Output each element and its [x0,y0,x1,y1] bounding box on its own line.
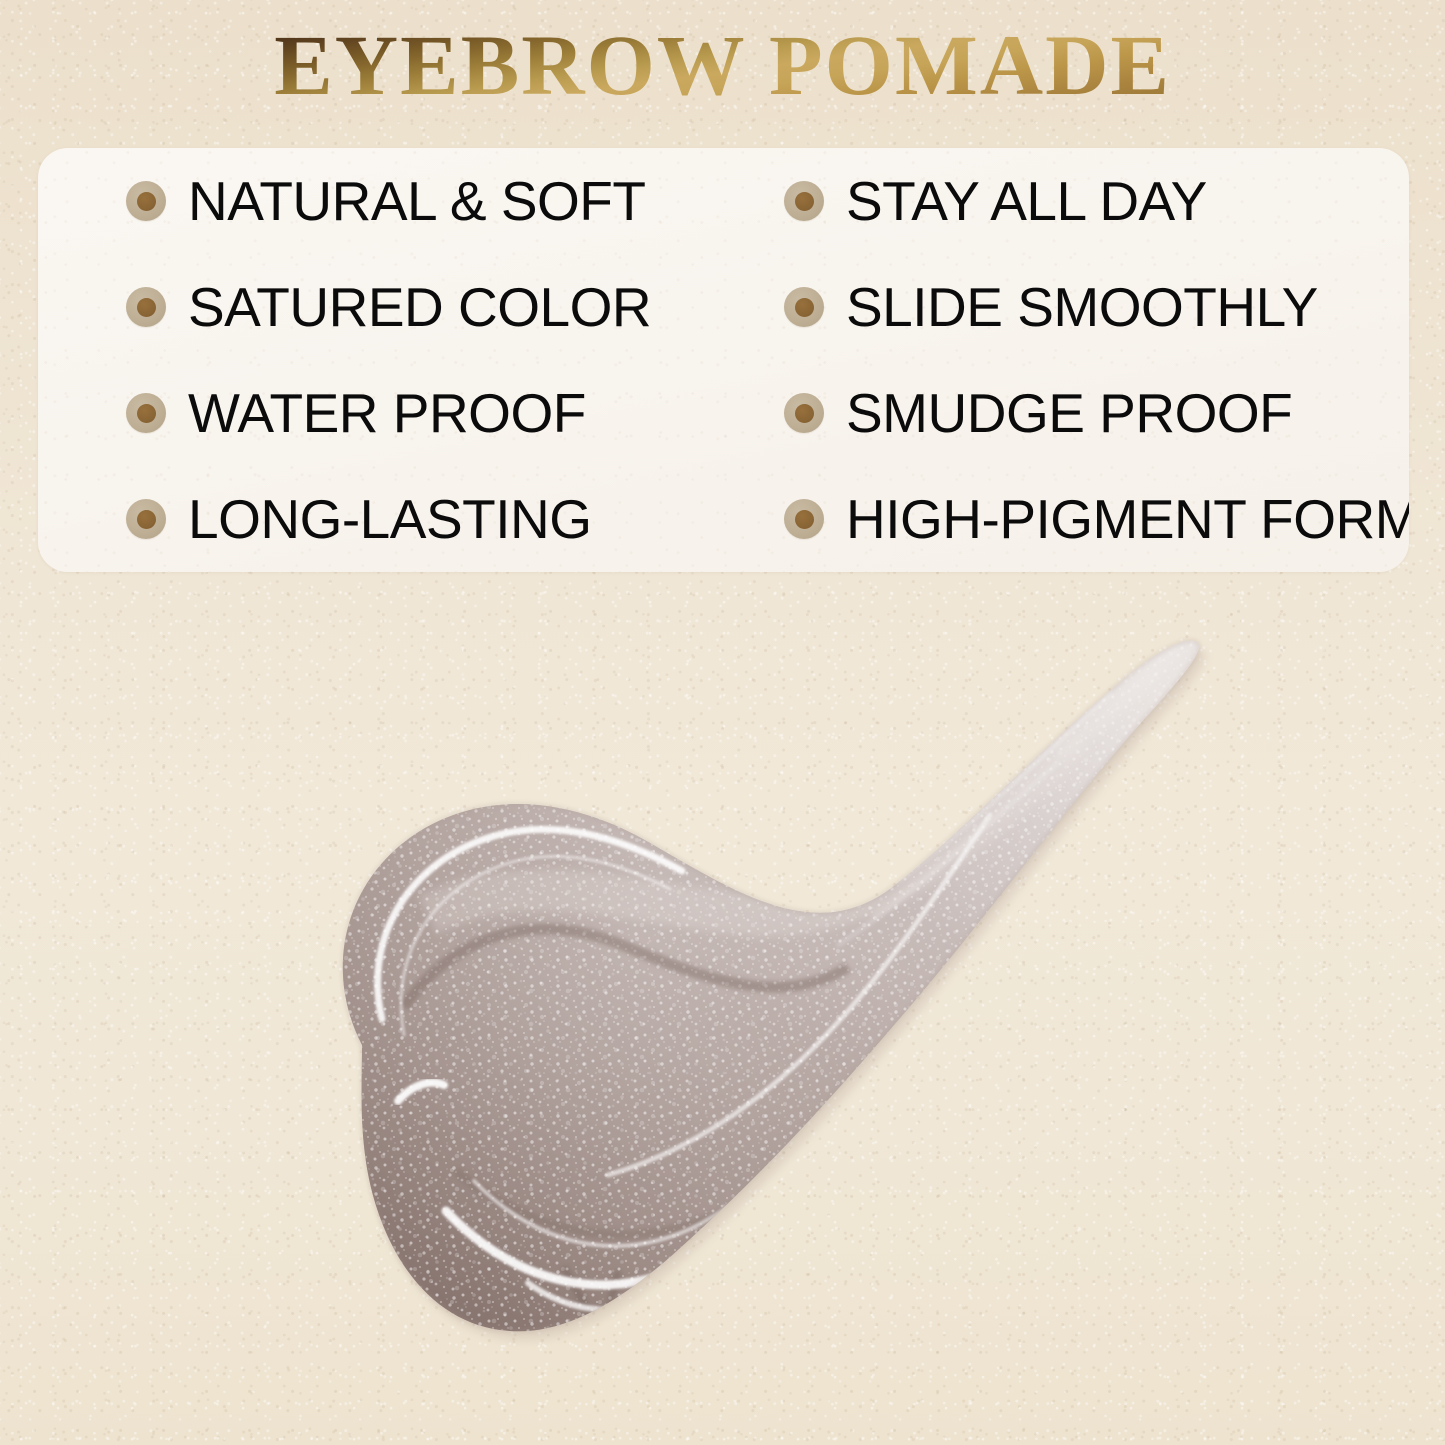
bullet-dot-icon [126,287,166,327]
features-grid: NATURAL & SOFT STAY ALL DAY SATURED COLO… [38,148,1409,572]
bullet-dot-icon [784,181,824,221]
bullet-dot-icon [784,287,824,327]
bullet-dot-core-icon [795,192,814,211]
feature-item-smudge-proof: SMUDGE PROOF [784,360,1409,466]
feature-label: SMUDGE PROOF [846,386,1292,441]
bullet-dot-icon [126,499,166,539]
bullet-dot-core-icon [137,192,156,211]
bullet-dot-icon [784,393,824,433]
bullet-dot-core-icon [795,298,814,317]
bullet-dot-icon [126,393,166,433]
page-title-container: EYEBROW POMADE [0,22,1445,110]
feature-item-water-proof: WATER PROOF [126,360,784,466]
page-background: EYEBROW POMADE NATURAL & SOFT STAY ALL D… [0,0,1445,1445]
feature-label: STAY ALL DAY [846,174,1207,229]
feature-item-slide-smoothly: SLIDE SMOOTHLY [784,254,1409,360]
feature-label: SLIDE SMOOTHLY [846,280,1318,335]
bullet-dot-core-icon [795,510,814,529]
feature-item-stay-all-day: STAY ALL DAY [784,148,1409,254]
feature-item-long-lasting: LONG-LASTING [126,466,784,572]
bullet-dot-core-icon [137,510,156,529]
features-card: NATURAL & SOFT STAY ALL DAY SATURED COLO… [38,148,1409,572]
bullet-dot-core-icon [795,404,814,423]
bullet-dot-core-icon [137,404,156,423]
feature-item-natural-soft: NATURAL & SOFT [126,148,784,254]
feature-label: HIGH-PIGMENT FORMULA [846,492,1409,547]
page-title: EYEBROW POMADE [274,22,1171,110]
feature-label: SATURED COLOR [188,280,651,335]
feature-label: NATURAL & SOFT [188,174,646,229]
pomade-smear-graphic [278,615,1218,1415]
bullet-dot-core-icon [137,298,156,317]
bullet-dot-icon [126,181,166,221]
feature-label: WATER PROOF [188,386,586,441]
feature-item-high-pigment-formula: HIGH-PIGMENT FORMULA [784,466,1409,572]
feature-item-satured-color: SATURED COLOR [126,254,784,360]
bullet-dot-icon [784,499,824,539]
feature-label: LONG-LASTING [188,492,592,547]
pomade-smear-swatch [278,615,1218,1415]
